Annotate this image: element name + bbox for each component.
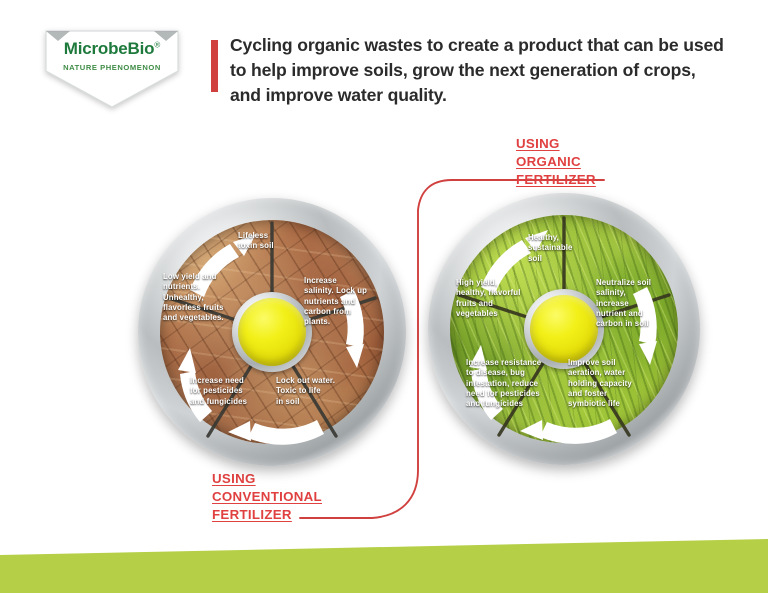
heading-organic-line-3: FERTILIZER (516, 171, 596, 189)
heading-organic-line-1: USING (516, 135, 596, 153)
wheel-hub-core (530, 295, 598, 363)
heading-conventional-line-1: USING (212, 470, 322, 488)
heading-organic-line-2: ORGANIC (516, 153, 596, 171)
wheel-hub-ring (232, 292, 312, 372)
heading-conventional-line-2: CONVENTIONAL (212, 488, 322, 506)
heading-organic-fertilizer: USING ORGANIC FERTILIZER (516, 135, 596, 188)
wheel-hub-ring (524, 289, 604, 369)
heading-conventional-fertilizer: USING CONVENTIONAL FERTILIZER (212, 470, 322, 523)
wheel-hub-core (238, 298, 306, 366)
organic-fertilizer-wheel: Healthy, sustainable soil Neutralize soi… (428, 193, 700, 465)
bottom-green-band (0, 533, 768, 593)
conventional-fertilizer-wheel: Lifeless toxin soil Increase salinity. L… (138, 198, 406, 466)
heading-conventional-line-3: FERTILIZER (212, 506, 322, 524)
infographic-canvas: MicrobeBio® NATURE PHENOMENON Cycling or… (0, 0, 768, 593)
